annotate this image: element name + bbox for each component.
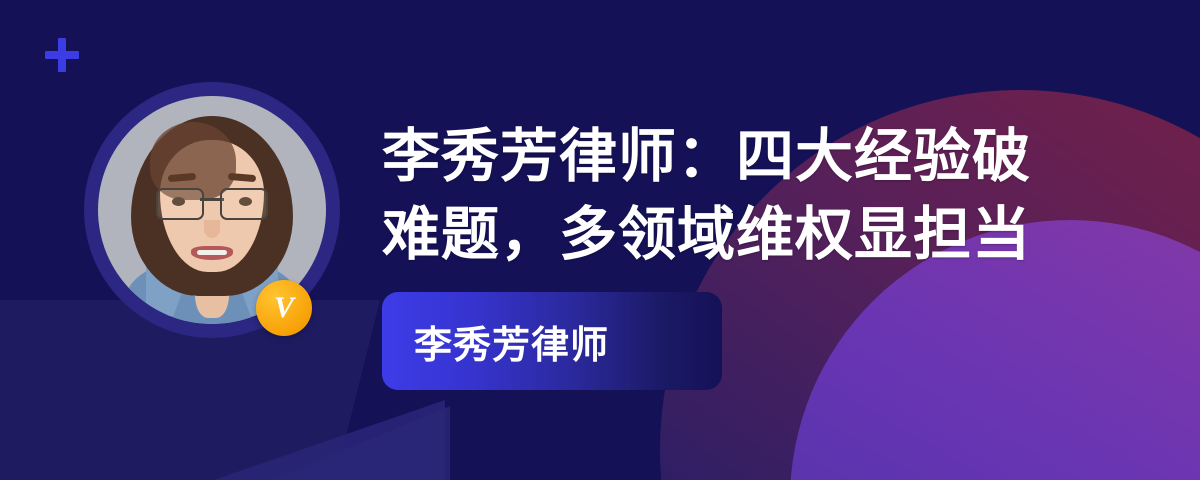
name-badge: 李秀芳律师	[382, 292, 722, 390]
avatar: V	[84, 82, 340, 338]
portrait-glasses	[156, 188, 268, 218]
promo-banner: V 李秀芳律师：四大经验破 难题，多领域维权显担当 李秀芳律师	[0, 0, 1200, 480]
portrait-lens-left	[156, 188, 204, 220]
plus-icon	[45, 38, 79, 72]
headline-block: 李秀芳律师：四大经验破 难题，多领域维权显担当	[382, 118, 1082, 273]
name-badge-label: 李秀芳律师	[382, 314, 609, 369]
portrait-mouth	[191, 246, 233, 260]
page-title: 李秀芳律师：四大经验破 难题，多领域维权显担当	[382, 118, 1082, 273]
portrait-lens-right	[220, 188, 268, 220]
verified-badge-letter: V	[274, 293, 294, 323]
portrait-nose	[204, 220, 220, 238]
verified-badge-icon: V	[256, 280, 312, 336]
